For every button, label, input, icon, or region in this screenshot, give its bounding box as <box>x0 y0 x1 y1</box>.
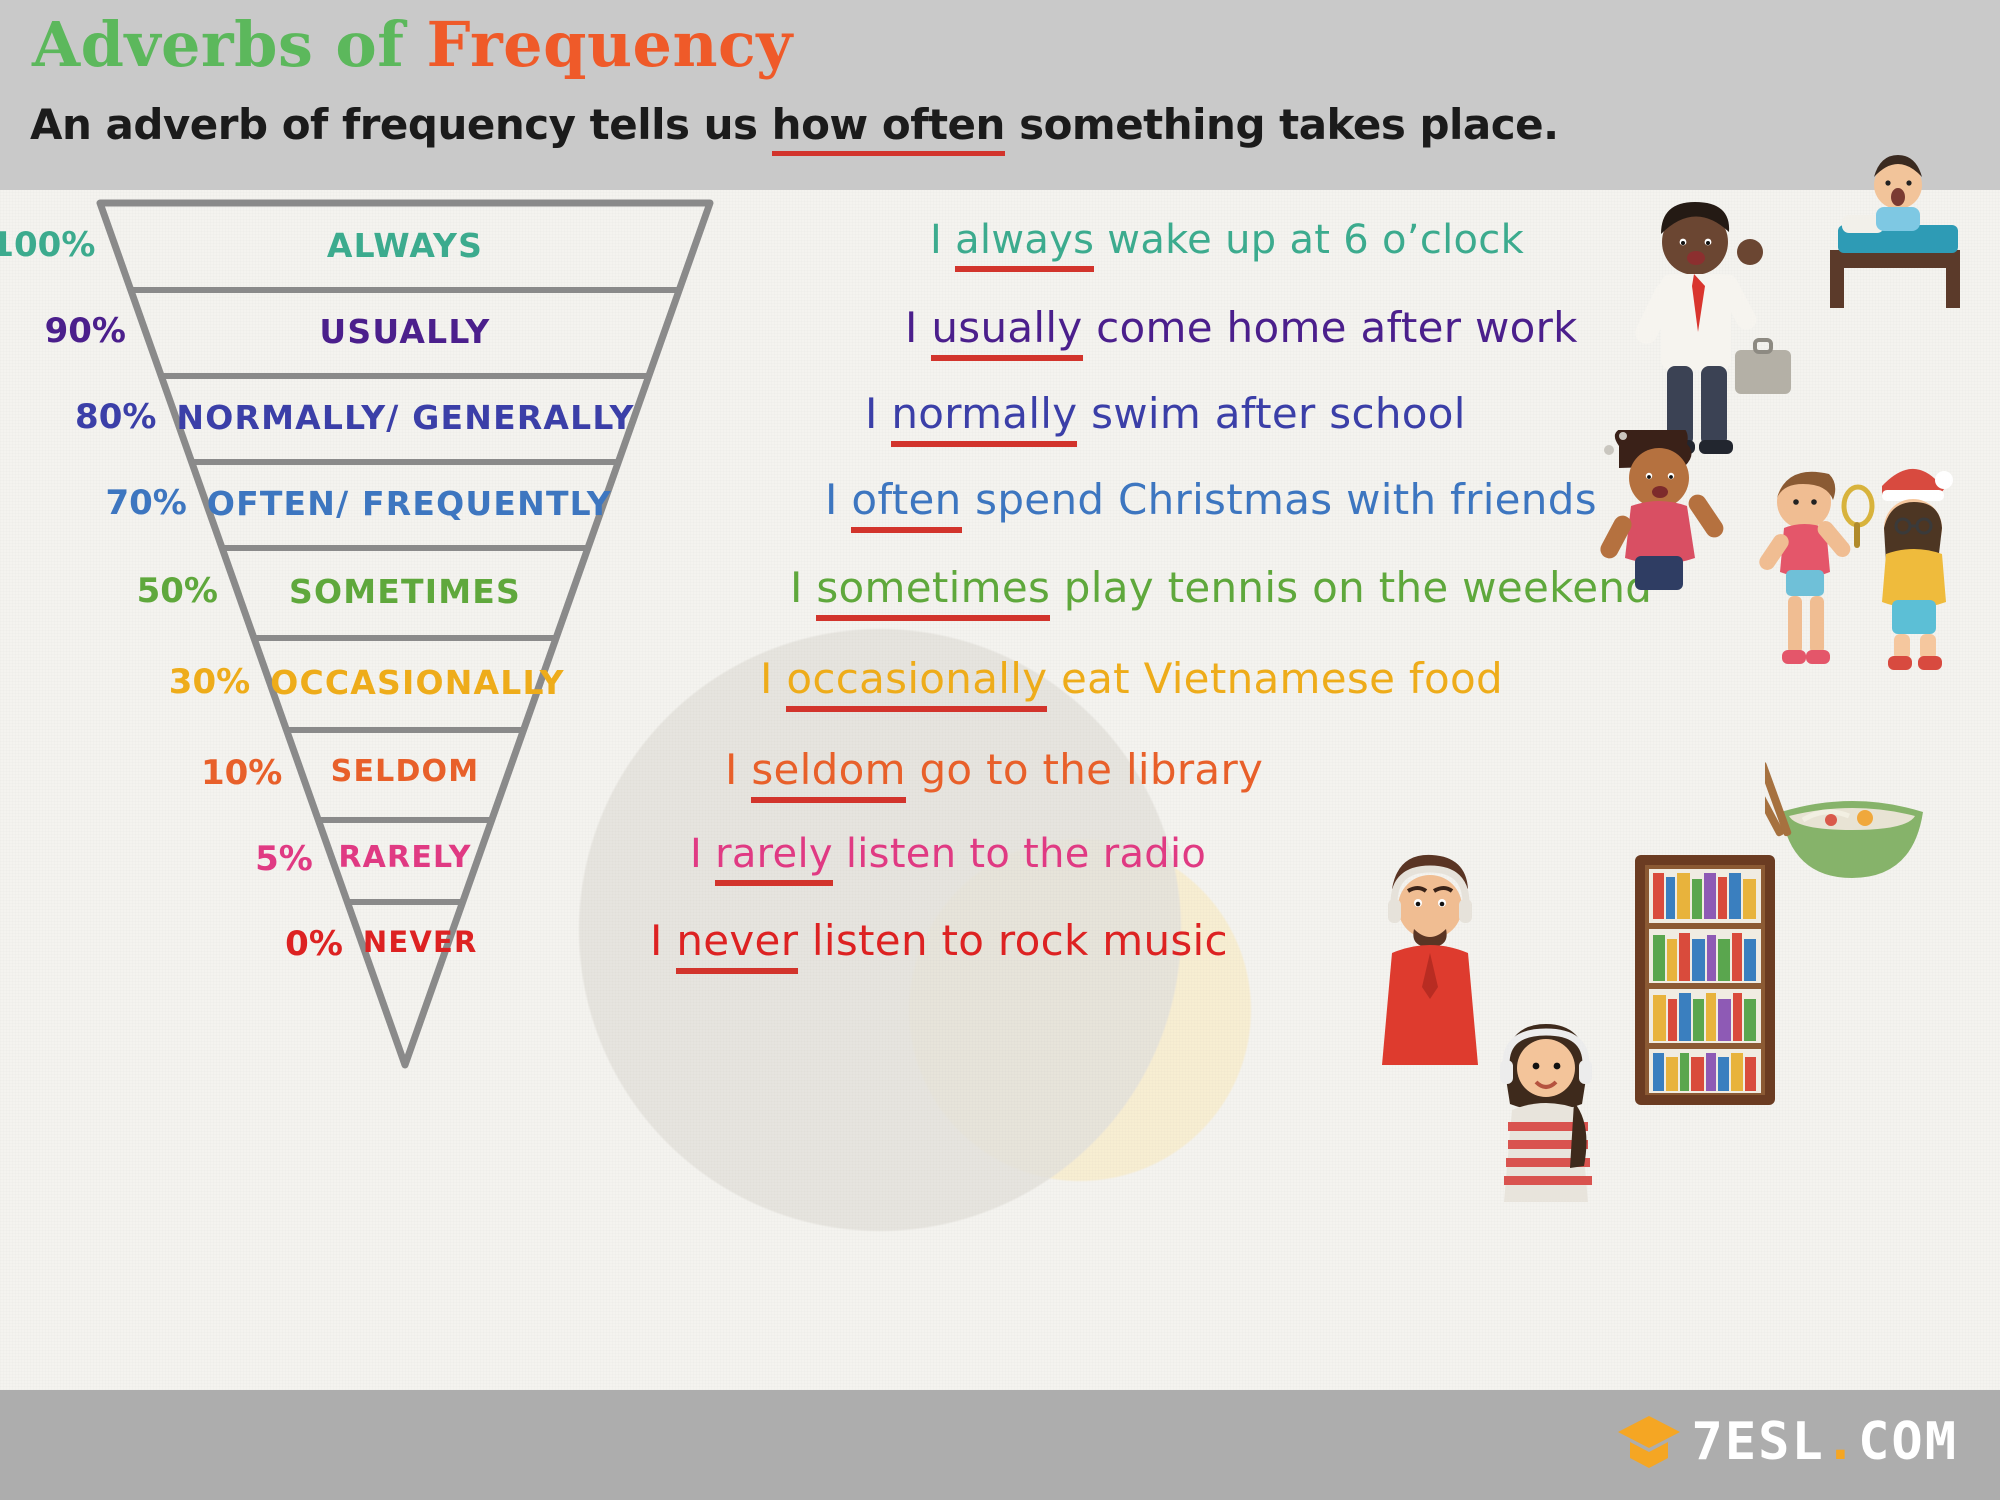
sentence-suffix: spend Christmas with friends <box>962 475 1597 524</box>
example-sentence-rarely: I rarely listen to the radio <box>690 831 1206 877</box>
frequency-level-often: OFTEN/ FREQUENTLY <box>207 484 603 523</box>
logo-tld: COM <box>1858 1412 1958 1472</box>
sentence-prefix: I <box>905 303 931 352</box>
noodle-bowl-illustration <box>1765 760 1940 900</box>
site-logo[interactable]: 7ESL.COM <box>1616 1412 1958 1472</box>
percent-label-rarely: 5% <box>203 839 313 879</box>
swimmer-girl-illustration <box>1585 430 1745 650</box>
percent-label-normally: 80% <box>46 397 156 437</box>
woman-with-headphones-illustration <box>1470 1010 1620 1210</box>
sentence-prefix: I <box>825 475 851 524</box>
sentence-prefix: I <box>930 217 955 263</box>
frequency-level-always: ALWAYS <box>115 226 694 265</box>
example-sentence-normally: I normally swim after school <box>865 389 1466 438</box>
sentence-adverb: often <box>851 475 961 533</box>
sentence-prefix: I <box>725 745 751 794</box>
frequency-level-normally: NORMALLY/ GENERALLY <box>176 398 633 437</box>
percent-label-never: 0% <box>233 924 343 964</box>
logo-name: 7ESL <box>1692 1412 1825 1472</box>
header-bar: Adverbs of Frequency An adverb of freque… <box>0 0 2000 190</box>
frequency-level-never: NEVER <box>363 925 447 959</box>
sentence-suffix: swim after school <box>1077 389 1465 438</box>
frequency-level-usually: USUALLY <box>146 312 664 351</box>
sentence-prefix: I <box>760 654 786 703</box>
footer-bar: 7ESL.COM <box>0 1390 2000 1500</box>
graduation-cap-icon <box>1616 1412 1682 1472</box>
page-subtitle: An adverb of frequency tells us how ofte… <box>30 100 1559 149</box>
sentence-adverb: normally <box>891 389 1077 447</box>
man-waving-with-briefcase-illustration <box>1615 200 1805 465</box>
sentence-suffix: wake up at 6 o’clock <box>1094 217 1524 263</box>
bookshelf-illustration <box>1635 855 1775 1105</box>
subtitle-before: An adverb of frequency tells us <box>30 100 772 149</box>
logo-text: 7ESL.COM <box>1692 1412 1958 1472</box>
two-friends-christmas-illustration <box>1740 450 1980 730</box>
logo-dot: . <box>1825 1412 1858 1472</box>
sentence-adverb: occasionally <box>786 654 1047 712</box>
percent-label-sometimes: 50% <box>108 571 218 611</box>
example-sentence-seldom: I seldom go to the library <box>725 745 1263 794</box>
sentence-prefix: I <box>650 916 676 965</box>
sentence-suffix: eat Vietnamese food <box>1047 654 1503 703</box>
percent-label-occasionally: 30% <box>140 662 250 702</box>
example-sentence-occasionally: I occasionally eat Vietnamese food <box>760 654 1503 703</box>
sentence-adverb: never <box>676 916 798 974</box>
sentence-prefix: I <box>865 389 891 438</box>
sentence-adverb: usually <box>931 303 1082 361</box>
sentence-adverb: seldom <box>751 745 905 803</box>
example-sentence-usually: I usually come home after work <box>905 303 1578 352</box>
percent-label-often: 70% <box>77 483 187 523</box>
percent-label-usually: 90% <box>16 311 126 351</box>
page-title-part2: Frequency <box>427 8 793 81</box>
example-sentence-sometimes: I sometimes play tennis on the weekend <box>790 563 1652 612</box>
man-waking-up-in-bed-illustration <box>1820 145 1970 320</box>
page-title-part1: Adverbs of <box>32 8 427 81</box>
example-sentence-often: I often spend Christmas with friends <box>825 475 1597 524</box>
percent-label-seldom: 10% <box>172 753 282 793</box>
sentence-prefix: I <box>790 563 816 612</box>
frequency-level-rarely: RARELY <box>333 840 477 875</box>
example-sentence-always: I always wake up at 6 o’clock <box>930 217 1524 263</box>
sentence-adverb: rarely <box>715 831 833 886</box>
percent-label-always: 100% <box>0 225 95 265</box>
sentence-adverb: sometimes <box>816 563 1050 621</box>
frequency-level-occasionally: OCCASIONALLY <box>270 663 540 702</box>
example-sentence-never: I never listen to rock music <box>650 916 1228 965</box>
subtitle-emphasis: how often <box>772 100 1005 156</box>
sentence-suffix: listen to rock music <box>798 916 1228 965</box>
sentence-suffix: go to the library <box>906 745 1263 794</box>
subtitle-after: something takes place. <box>1005 100 1559 149</box>
sentence-prefix: I <box>690 831 715 877</box>
frequency-level-sometimes: SOMETIMES <box>238 572 572 611</box>
page-title: Adverbs of Frequency <box>32 8 793 81</box>
frequency-level-seldom: SELDOM <box>302 754 507 789</box>
sentence-suffix: play tennis on the weekend <box>1050 563 1652 612</box>
sentence-adverb: always <box>955 217 1094 272</box>
sentence-suffix: listen to the radio <box>833 831 1206 877</box>
sentence-suffix: come home after work <box>1083 303 1578 352</box>
